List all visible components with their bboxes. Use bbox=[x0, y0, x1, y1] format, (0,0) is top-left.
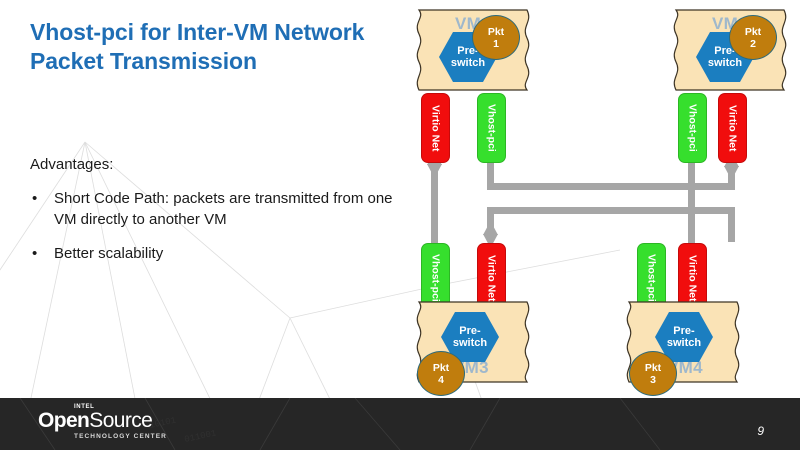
bullet-text: Better scalability bbox=[54, 243, 163, 264]
nic-label: Vhost-pci bbox=[646, 254, 658, 302]
title-line-1: Vhost-pci for Inter-VM Network bbox=[30, 18, 400, 47]
packet-label: Pkt bbox=[488, 26, 504, 38]
packet-number: 1 bbox=[493, 38, 499, 50]
nic-label: Virtio Net bbox=[727, 105, 739, 152]
switch-line-2: switch bbox=[453, 337, 487, 350]
vm-container-vm4: VM4 Pre- switch Pkt 3 bbox=[621, 300, 745, 384]
bullet-item-1: • Better scalability bbox=[32, 243, 402, 264]
slide-footer: 10101 011001 INTEL OpenSource TECHNOLOGY… bbox=[0, 398, 800, 450]
nic-label: Vhost-pci bbox=[687, 104, 699, 152]
nic-virtio-net-vm2[interactable]: Virtio Net bbox=[718, 93, 747, 163]
bullet-marker: • bbox=[32, 243, 54, 264]
nic-vhost-pci-vm2[interactable]: Vhost-pci bbox=[678, 93, 707, 163]
logo-main-text: OpenSource bbox=[38, 409, 152, 433]
nic-label: Vhost-pci bbox=[430, 254, 442, 302]
packet-badge-pkt2: Pkt 2 bbox=[729, 15, 777, 60]
page-title: Vhost-pci for Inter-VM Network Packet Tr… bbox=[30, 18, 400, 76]
packet-badge-pkt1: Pkt 1 bbox=[472, 15, 520, 60]
logo-source-text: Source bbox=[89, 409, 152, 432]
vm-container-vm3: VM3 Pre- switch Pkt 4 bbox=[411, 300, 535, 384]
switch-line-2: switch bbox=[451, 57, 485, 70]
nic-label: Virtio Net bbox=[687, 255, 699, 302]
page-number: 9 bbox=[757, 424, 764, 438]
bullet-text: Short Code Path: packets are transmitted… bbox=[54, 188, 402, 230]
switch-line-1: Pre- bbox=[459, 325, 480, 338]
svg-text:011001: 011001 bbox=[184, 428, 218, 445]
packet-label: Pkt bbox=[745, 26, 761, 38]
bullet-marker: • bbox=[32, 188, 54, 209]
packet-label: Pkt bbox=[645, 362, 661, 374]
switch-line-2: switch bbox=[667, 337, 701, 350]
packet-number: 3 bbox=[650, 374, 656, 386]
packet-badge-pkt4: Pkt 4 bbox=[417, 351, 465, 396]
advantages-heading: Advantages: bbox=[30, 156, 113, 173]
nic-virtio-net-vm1[interactable]: Virtio Net bbox=[421, 93, 450, 163]
packet-badge-pkt3: Pkt 3 bbox=[629, 351, 677, 396]
logo-subtitle: TECHNOLOGY CENTER bbox=[74, 433, 167, 440]
packet-label: Pkt bbox=[433, 362, 449, 374]
nic-label: Vhost-pci bbox=[486, 104, 498, 152]
switch-line-1: Pre- bbox=[673, 325, 694, 338]
nic-vhost-pci-vm1[interactable]: Vhost-pci bbox=[477, 93, 506, 163]
switch-line-2: switch bbox=[708, 57, 742, 70]
packet-number: 2 bbox=[750, 38, 756, 50]
title-line-2: Packet Transmission bbox=[30, 47, 400, 76]
logo-open-text: Open bbox=[38, 409, 89, 432]
vm-container-vm1: VM1 Pre- switch Pkt 1 bbox=[411, 8, 535, 92]
nic-label: Virtio Net bbox=[430, 105, 442, 152]
nic-label: Virtio Net bbox=[486, 255, 498, 302]
vhost-pci-diagram: VM1 Pre- switch Pkt 1 Virtio Net Vhost-p… bbox=[405, 0, 800, 392]
vm-container-vm2: VM2 Pre- switch Pkt 2 bbox=[668, 8, 792, 92]
slide: Vhost-pci for Inter-VM Network Packet Tr… bbox=[0, 0, 800, 450]
packet-number: 4 bbox=[438, 374, 444, 386]
bullet-item-0: • Short Code Path: packets are transmitt… bbox=[32, 188, 402, 230]
